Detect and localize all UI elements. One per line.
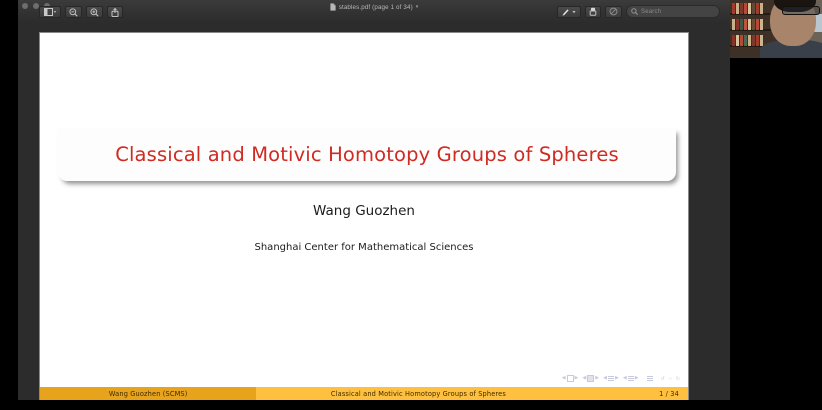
nav-next-arrow-icon[interactable]: ▶ xyxy=(575,376,579,381)
nav-prev-arrow-icon[interactable]: ◀ xyxy=(603,376,607,381)
pdf-document-icon xyxy=(330,3,336,11)
nav-next-arrow-icon[interactable]: ▶ xyxy=(595,376,599,381)
nav-frame-group[interactable]: ◀ ▶ xyxy=(582,375,599,382)
nav-prev-arrow-icon[interactable]: ◀ xyxy=(562,376,566,381)
nav-subsection-icon[interactable] xyxy=(608,376,614,382)
nav-forward-icon[interactable]: ↻ xyxy=(676,376,680,382)
nav-back-icon[interactable]: ↺ xyxy=(661,376,665,382)
nav-slide-group[interactable]: ◀ ▶ xyxy=(562,375,579,382)
document-title: stables.pdf (page 1 of 34) xyxy=(339,4,413,11)
footer-title: Classical and Motivic Homotopy Groups of… xyxy=(256,387,580,400)
nav-section-group[interactable]: ◀ ▶ xyxy=(623,376,639,382)
slide-title-block: Classical and Motivic Homotopy Groups of… xyxy=(58,128,676,181)
nav-slide-icon[interactable] xyxy=(567,375,574,382)
screen: Search stables.pdf (page 1 of 34) ▾ Clas… xyxy=(0,0,822,410)
nav-next-arrow-icon[interactable]: ▶ xyxy=(615,376,619,381)
pdf-page-slide[interactable]: Classical and Motivic Homotopy Groups of… xyxy=(40,33,688,400)
nav-frame-icon[interactable] xyxy=(587,375,594,382)
nav-next-arrow-icon[interactable]: ▶ xyxy=(635,376,639,381)
nav-prev-arrow-icon[interactable]: ◀ xyxy=(623,376,627,381)
slide-institute: Shanghai Center for Mathematical Science… xyxy=(40,242,688,253)
footer-page-number: 1 / 34 xyxy=(580,387,688,400)
slide-footer: Wang Guozhen (SCMS) Classical and Motivi… xyxy=(40,387,688,400)
chevron-down-icon[interactable]: ▾ xyxy=(416,4,419,10)
footer-author: Wang Guozhen (SCMS) xyxy=(40,387,256,400)
nav-find-icon[interactable]: ○ xyxy=(669,376,672,382)
pdf-view-area[interactable]: Classical and Motivic Homotopy Groups of… xyxy=(18,23,730,400)
nav-subsection-group[interactable]: ◀ ▶ xyxy=(603,376,619,382)
nav-prev-arrow-icon[interactable]: ◀ xyxy=(582,376,586,381)
beamer-navigation-symbols[interactable]: ◀ ▶ ◀ ▶ ◀ ▶ ◀ xyxy=(562,375,680,382)
person-glasses xyxy=(782,6,820,15)
nav-section-icon[interactable] xyxy=(628,376,634,382)
webcam-video-thumbnail[interactable] xyxy=(730,0,822,58)
slide-title: Classical and Motivic Homotopy Groups of… xyxy=(115,143,619,166)
document-title-bar[interactable]: stables.pdf (page 1 of 34) ▾ xyxy=(18,3,730,11)
nav-toc-icon[interactable] xyxy=(647,376,653,382)
slide-author: Wang Guozhen xyxy=(40,203,688,219)
preview-window: Search stables.pdf (page 1 of 34) ▾ Clas… xyxy=(18,0,730,400)
